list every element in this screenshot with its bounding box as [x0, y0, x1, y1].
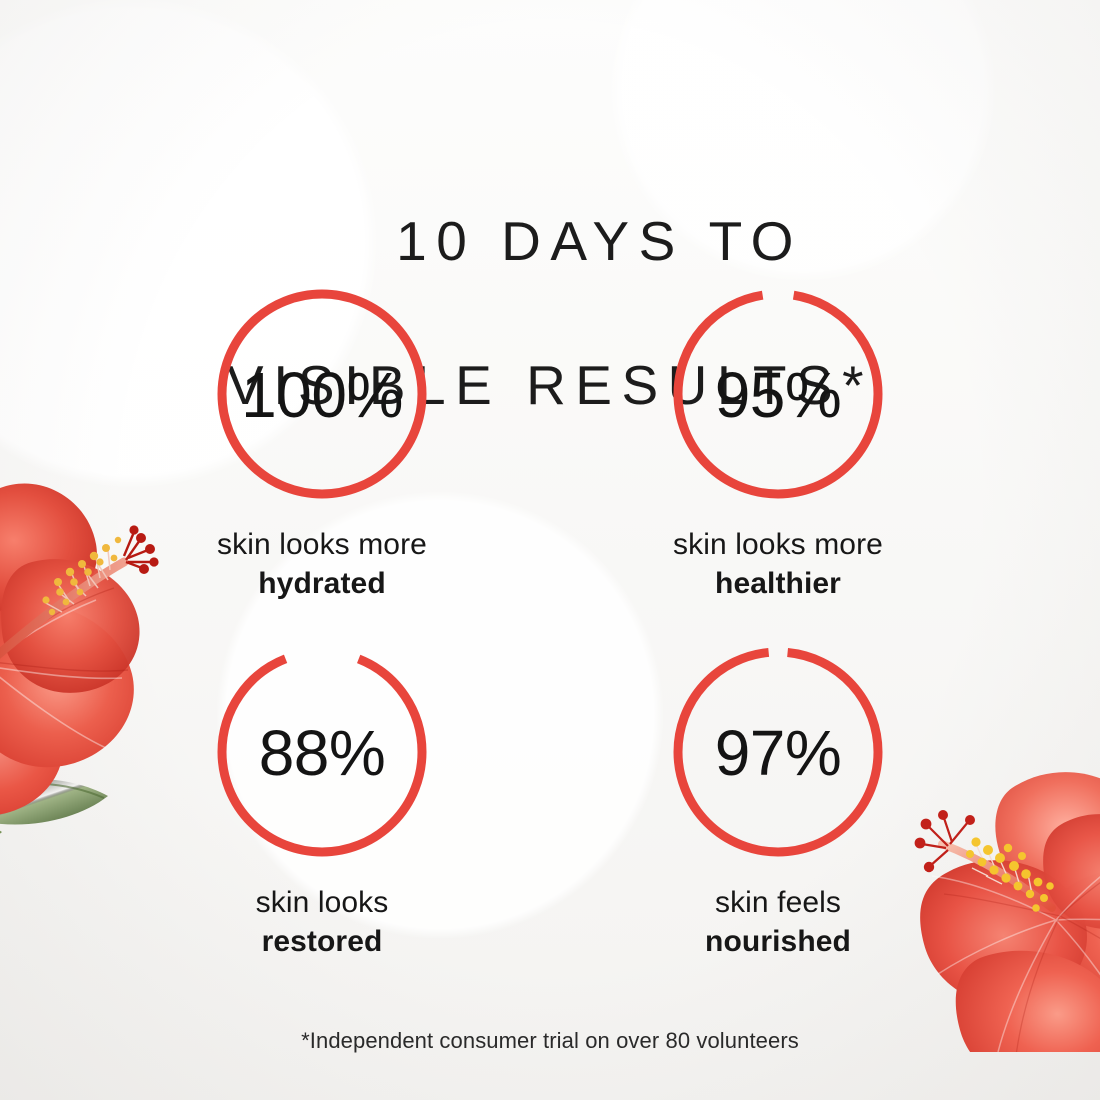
stat-value-restored: 88% — [214, 645, 430, 861]
caption-lead: skin looks more — [217, 526, 427, 564]
stat-nourished: 97% skin feels nourished — [670, 644, 886, 962]
caption-strong: hydrated — [217, 564, 427, 604]
caption-lead: skin looks more — [673, 526, 883, 564]
infographic-canvas: 10 DAYS TO VISIBLE RESULTS* 100% skin lo… — [0, 0, 1100, 1100]
caption-strong: nourished — [705, 922, 851, 962]
title-line-1: 10 DAYS TO — [396, 210, 803, 272]
progress-ring-nourished: 97% — [670, 644, 886, 860]
stat-value-nourished: 97% — [670, 645, 886, 861]
stat-hydrated: 100% skin looks more hydrated — [214, 286, 430, 604]
caption-strong: healthier — [673, 564, 883, 604]
stats-row-2: 88% skin looks restored 97% skin feels n… — [0, 644, 1100, 962]
stat-caption-restored: skin looks restored — [256, 884, 389, 962]
stat-caption-healthier: skin looks more healthier — [673, 526, 883, 604]
stat-value-hydrated: 100% — [214, 287, 430, 503]
footnote: *Independent consumer trial on over 80 v… — [0, 1028, 1100, 1054]
stats-grid: 100% skin looks more hydrated 95% skin l… — [0, 286, 1100, 962]
caption-lead: skin feels — [705, 884, 851, 922]
progress-ring-restored: 88% — [214, 644, 430, 860]
stat-caption-nourished: skin feels nourished — [705, 884, 851, 962]
progress-ring-healthier: 95% — [670, 286, 886, 502]
stat-restored: 88% skin looks restored — [214, 644, 430, 962]
progress-ring-hydrated: 100% — [214, 286, 430, 502]
stat-caption-hydrated: skin looks more hydrated — [217, 526, 427, 604]
stat-value-healthier: 95% — [670, 287, 886, 503]
caption-lead: skin looks — [256, 884, 389, 922]
caption-strong: restored — [256, 922, 389, 962]
stat-healthier: 95% skin looks more healthier — [670, 286, 886, 604]
stats-row-1: 100% skin looks more hydrated 95% skin l… — [0, 286, 1100, 604]
